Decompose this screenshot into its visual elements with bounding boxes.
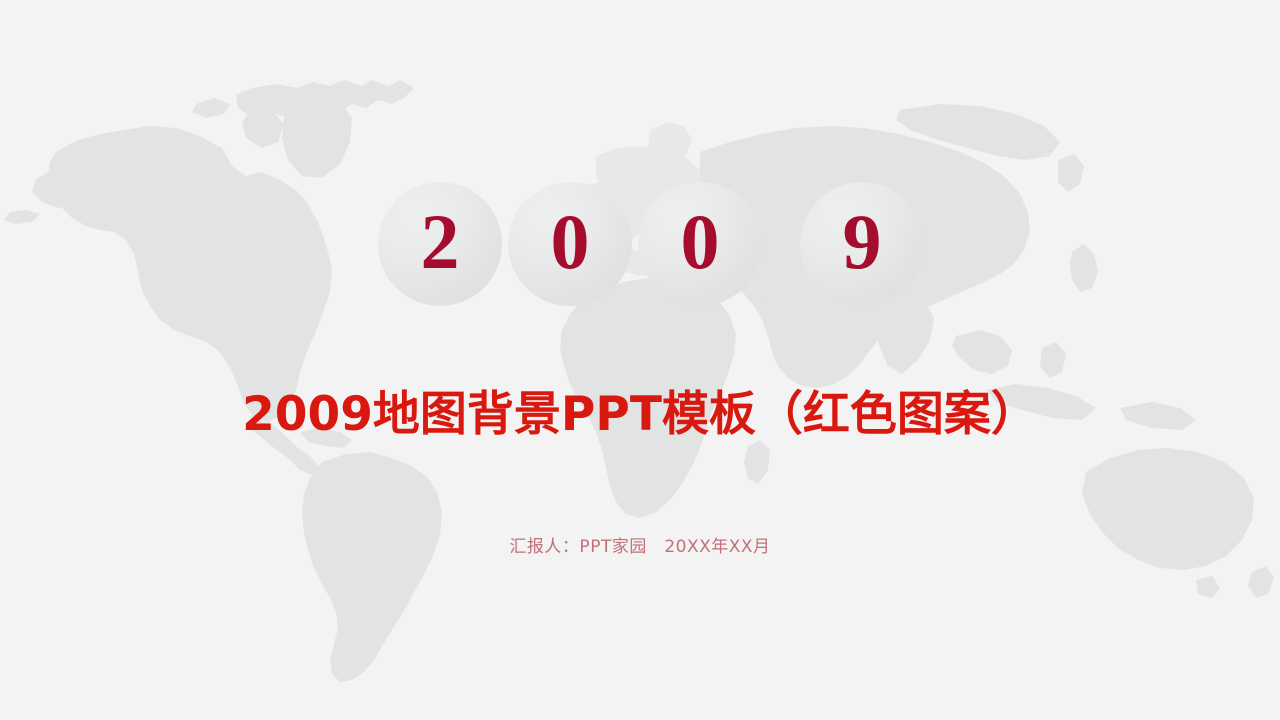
year-badge-row: 2 0 0 9 (0, 182, 1280, 306)
year-digit-cell-1: 2 (378, 182, 502, 306)
greenland-shape (236, 80, 414, 116)
south-america-shape (302, 452, 442, 682)
scandinavia-shape (648, 122, 692, 164)
philippines-shape (1040, 342, 1066, 378)
year-digit-2: 0 (508, 182, 632, 306)
world-map-background (0, 0, 1280, 720)
tasmania-shape (1196, 576, 1220, 598)
new-zealand-shape (1248, 566, 1274, 598)
year-digit-cell-3: 0 (638, 182, 762, 306)
slide-subtitle: 汇报人：PPT家园 20XX年XX月 (0, 535, 1280, 559)
year-digit-3: 0 (638, 182, 762, 306)
baffin-shape (242, 110, 284, 148)
madagascar-shape (744, 440, 770, 484)
arctic-islands-shape (192, 98, 230, 118)
siberia-north-shape (896, 104, 1060, 160)
greenland-main-shape (282, 92, 352, 178)
year-digit-4: 9 (800, 182, 924, 306)
year-digit-1: 2 (378, 182, 502, 306)
year-digit-cell-4: 9 (800, 182, 924, 306)
map-landmasses (4, 80, 1274, 682)
slide-title: 2009地图背景PPT模板（红色图案） (0, 384, 1280, 446)
southeast-asia-shape (952, 330, 1012, 374)
year-digit-cell-2: 0 (508, 182, 632, 306)
presentation-slide: 2 0 0 9 2009地图背景PPT模板（红色图案） 汇报人：PPT家园 20… (0, 0, 1280, 720)
